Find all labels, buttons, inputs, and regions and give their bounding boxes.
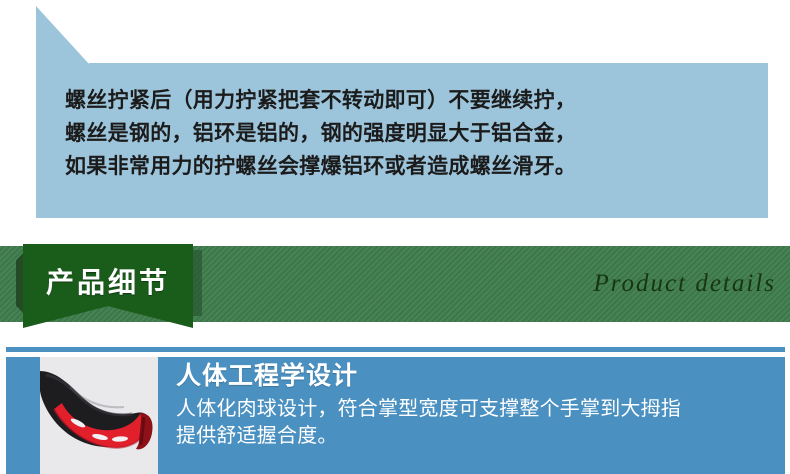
notice-panel: 螺丝拧紧后（用力拧紧把套不转动即可）不要继续拧， 螺丝是钢的，铝环是铝的，钢的强… [36,6,768,218]
product-detail-page: 螺丝拧紧后（用力拧紧把套不转动即可）不要继续拧， 螺丝是钢的，铝环是铝的，钢的强… [0,0,790,474]
feature-body: 人体化肉球设计，符合掌型宽度可支撑整个手掌到大拇指 提供舒适握合度。 [176,395,780,449]
section-header-english-label: Product details [593,270,776,298]
notice-text: 螺丝拧紧后（用力拧紧把套不转动即可）不要继续拧， 螺丝是钢的，铝环是铝的，钢的强… [65,84,748,183]
bicycle-grip-photo [40,357,158,474]
feature-title: 人体工程学设计 [176,361,780,391]
section-header-badge-label: 产品细节 [23,244,193,318]
feature-divider-rule [6,347,785,352]
feature-copy: 人体工程学设计 人体化肉球设计，符合掌型宽度可支撑整个手掌到大拇指 提供舒适握合… [176,361,780,449]
ribbon-shadow-right [192,250,202,316]
